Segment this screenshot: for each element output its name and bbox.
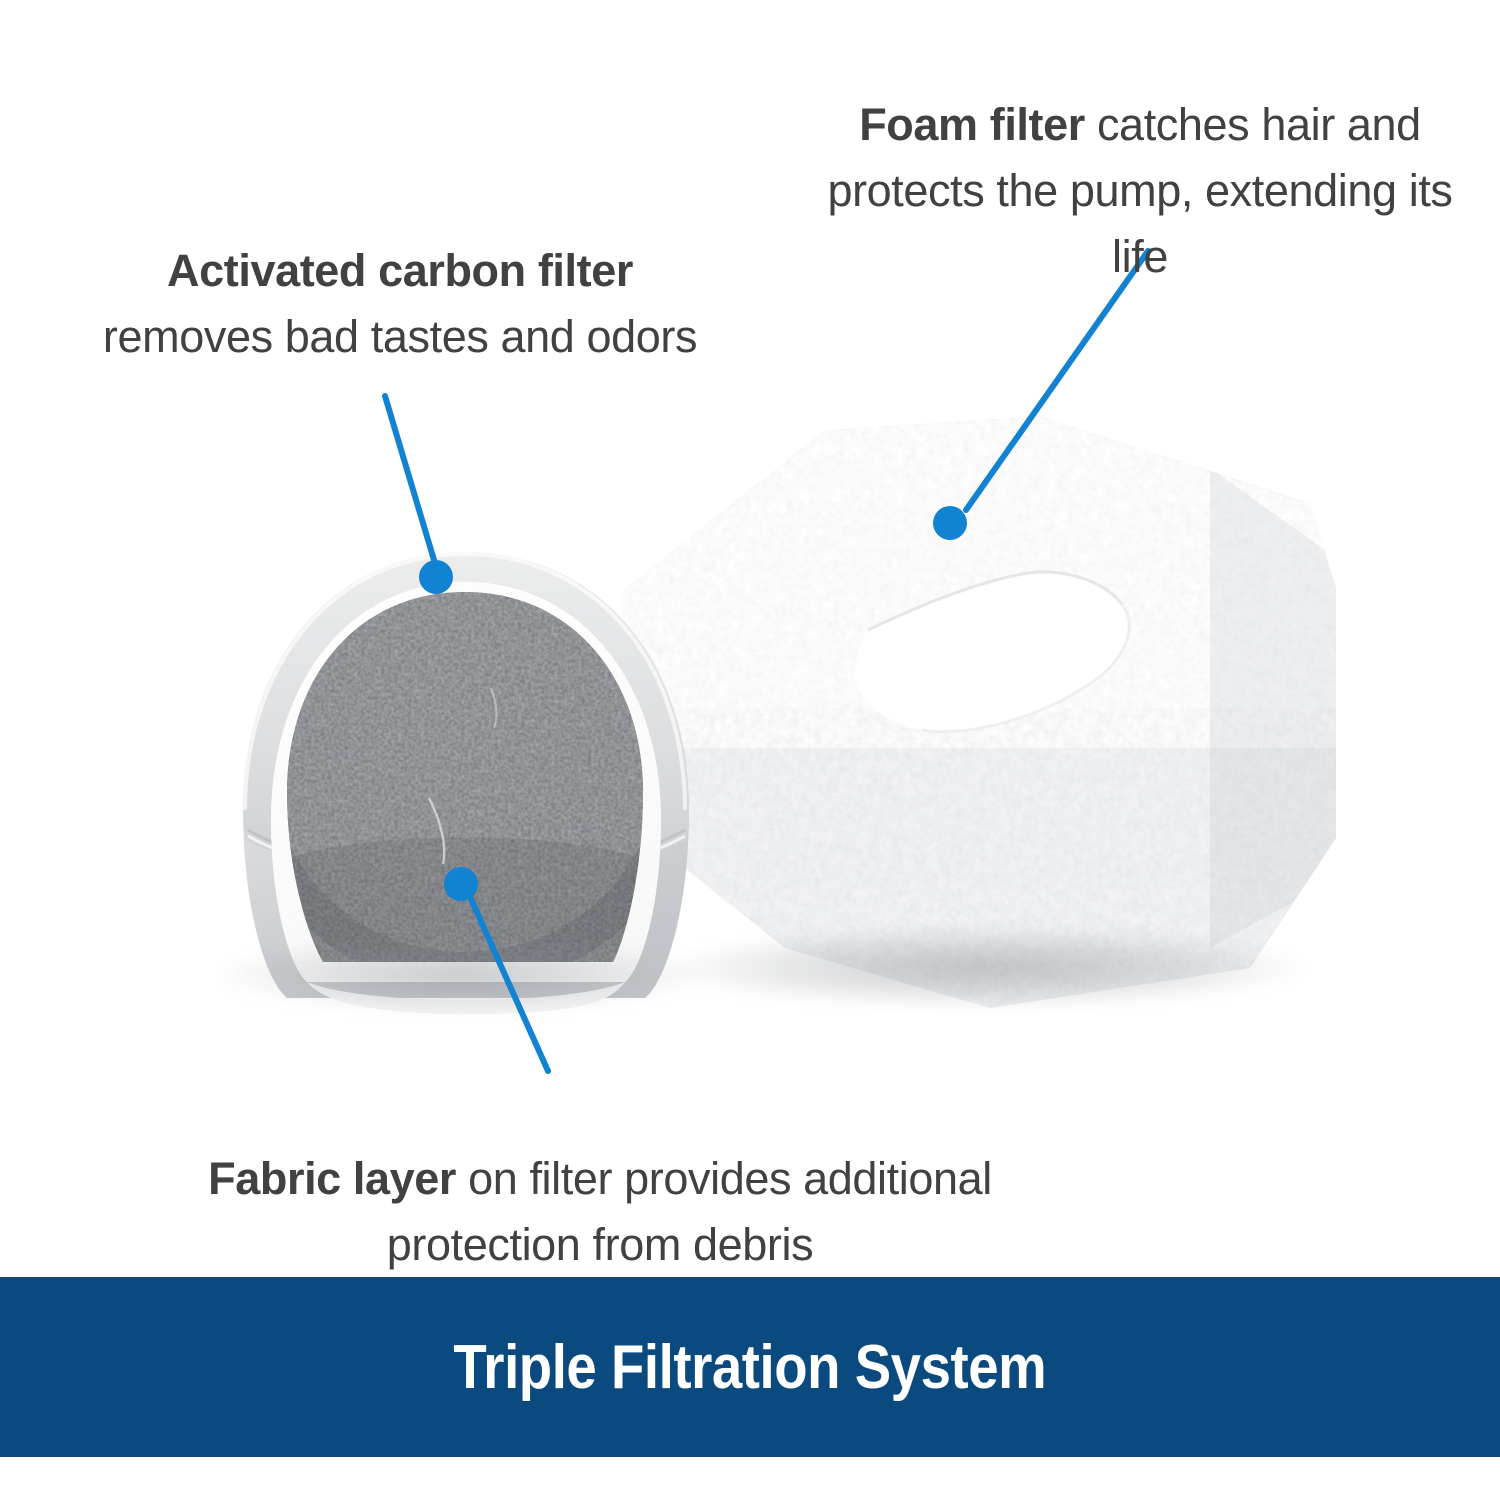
callout-carbon-lead: Activated carbon filter bbox=[167, 245, 633, 296]
carbon-filter-shadow bbox=[225, 940, 695, 1010]
infographic-page: Activated carbon filter removes bad tast… bbox=[0, 0, 1500, 1500]
activated-carbon-filter-object bbox=[215, 530, 715, 1030]
foam-filter-object bbox=[610, 408, 1345, 1008]
callout-foam-filter: Foam filter catches hair and protects th… bbox=[815, 26, 1465, 290]
callout-fabric-layer: Fabric layer on filter provides addition… bbox=[150, 1080, 1050, 1278]
callout-activated-carbon-filter: Activated carbon filter removes bad tast… bbox=[80, 172, 720, 370]
foam-filter-graphic bbox=[610, 408, 1345, 1008]
callout-fabric-rest: on filter provides additional protection… bbox=[387, 1153, 992, 1270]
callout-carbon-rest: removes bad tastes and odors bbox=[103, 311, 697, 362]
banner-title: Triple Filtration System bbox=[454, 1332, 1047, 1403]
product-photo bbox=[0, 380, 1500, 1080]
callout-foam-lead: Foam filter bbox=[859, 99, 1085, 150]
callout-fabric-lead: Fabric layer bbox=[208, 1153, 456, 1204]
bottom-banner: Triple Filtration System bbox=[0, 1277, 1500, 1457]
foam-filter-shadow bbox=[665, 928, 1305, 1008]
